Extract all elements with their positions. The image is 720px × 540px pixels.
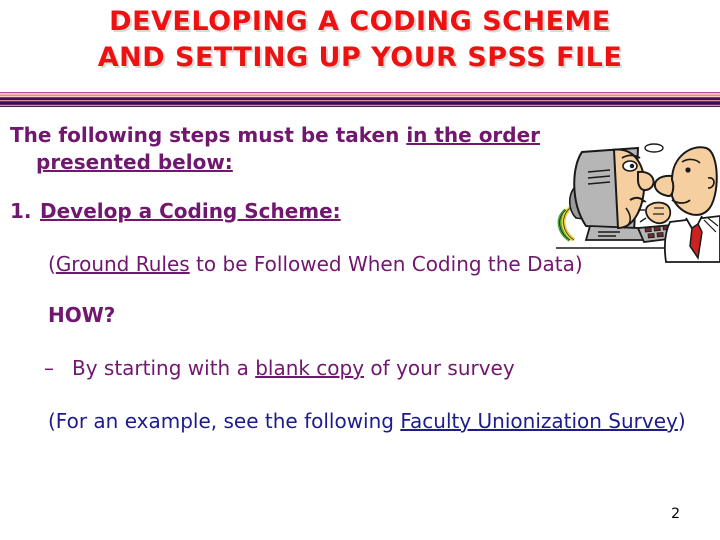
dash-bullet-plain-2: of your survey bbox=[364, 356, 515, 380]
example-plain-2: ) bbox=[678, 409, 686, 433]
page-number: 2 bbox=[671, 506, 680, 522]
divider-stripe-11 bbox=[0, 106, 720, 107]
step-1-label: Develop a Coding Scheme: bbox=[40, 199, 341, 223]
page-title: DEVELOPING A CODING SCHEME AND SETTING U… bbox=[0, 4, 720, 76]
dash-bullet-underlined: blank copy bbox=[255, 356, 364, 380]
ground-rules-rest: to be Followed When Coding the Data) bbox=[190, 252, 583, 276]
intro-paragraph: The following steps must be taken in the… bbox=[10, 122, 611, 176]
ground-rules-open-paren: ( bbox=[48, 252, 56, 276]
dash-bullet-plain-1: By starting with a bbox=[72, 356, 255, 380]
ground-rules-underlined: Ground Rules bbox=[56, 252, 190, 276]
dash-bullet-item: –By starting with a blank copy of your s… bbox=[10, 355, 690, 382]
example-survey-underlined: Faculty Unionization Survey bbox=[400, 409, 678, 433]
intro-text-plain: The following steps must be taken bbox=[10, 123, 406, 147]
example-plain-1: (For an example, see the following bbox=[48, 409, 400, 433]
man-in-monitor-cartoon-image bbox=[552, 136, 720, 268]
how-heading: HOW? bbox=[10, 302, 690, 329]
step-1-number: 1. bbox=[10, 198, 40, 225]
dash-bullet-marker: – bbox=[44, 355, 72, 382]
example-reference-note: (For an example, see the following Facul… bbox=[10, 408, 692, 435]
decorative-divider bbox=[0, 92, 720, 107]
